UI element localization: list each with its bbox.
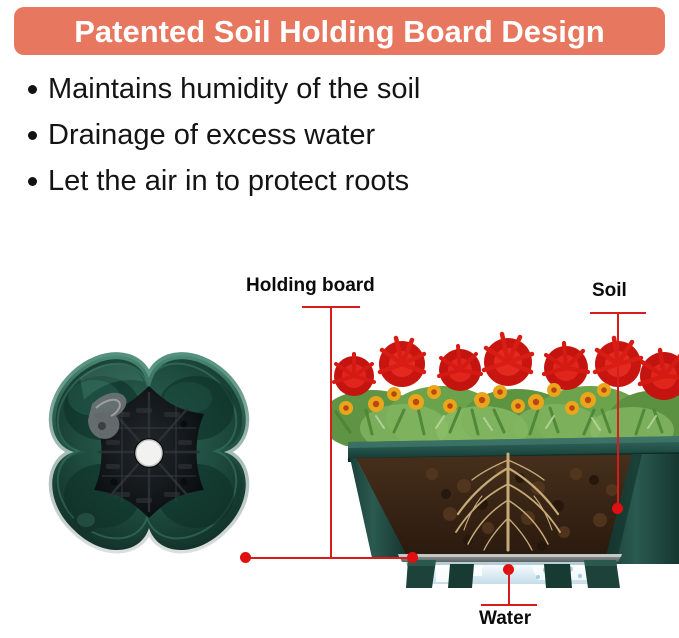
callout-label-holding-board: Holding board bbox=[246, 276, 375, 295]
holding-board-illustration bbox=[18, 352, 280, 608]
holding-board-leader-stem bbox=[330, 306, 332, 558]
header-banner: Patented Soil Holding Board Design bbox=[14, 7, 665, 55]
soil-marker bbox=[612, 503, 623, 514]
soil-leader-stem bbox=[617, 312, 619, 509]
list-item: Let the air in to protect roots bbox=[28, 164, 548, 210]
holding-board-product-photo bbox=[18, 352, 280, 608]
holding-board-leader-bar bbox=[246, 557, 414, 559]
infographic-canvas: Patented Soil Holding Board Design Maint… bbox=[0, 0, 679, 638]
water-leader-cap bbox=[481, 604, 537, 606]
water-leader-stem bbox=[508, 570, 510, 606]
bullet-dot-icon bbox=[28, 131, 37, 140]
holding-board-marker-left bbox=[240, 552, 251, 563]
list-item-label: Drainage of excess water bbox=[48, 118, 375, 152]
list-item-label: Let the air in to protect roots bbox=[48, 164, 409, 198]
list-item: Maintains humidity of the soil bbox=[28, 72, 548, 118]
callout-label-water: Water bbox=[479, 609, 531, 628]
flower-cluster bbox=[332, 334, 679, 454]
feature-list: Maintains humidity of the soil Drainage … bbox=[28, 72, 548, 210]
board-nozzle-detail bbox=[73, 511, 99, 533]
bullet-dot-icon bbox=[28, 177, 37, 186]
list-item-label: Maintains humidity of the soil bbox=[48, 72, 420, 106]
bullet-dot-icon bbox=[28, 85, 37, 94]
planter-cross-section-photo bbox=[332, 328, 679, 588]
page-title: Patented Soil Holding Board Design bbox=[74, 16, 604, 47]
planter-illustration bbox=[332, 328, 679, 588]
list-item: Drainage of excess water bbox=[28, 118, 548, 164]
holding-board-marker-right bbox=[407, 552, 418, 563]
callout-label-soil: Soil bbox=[592, 281, 627, 300]
